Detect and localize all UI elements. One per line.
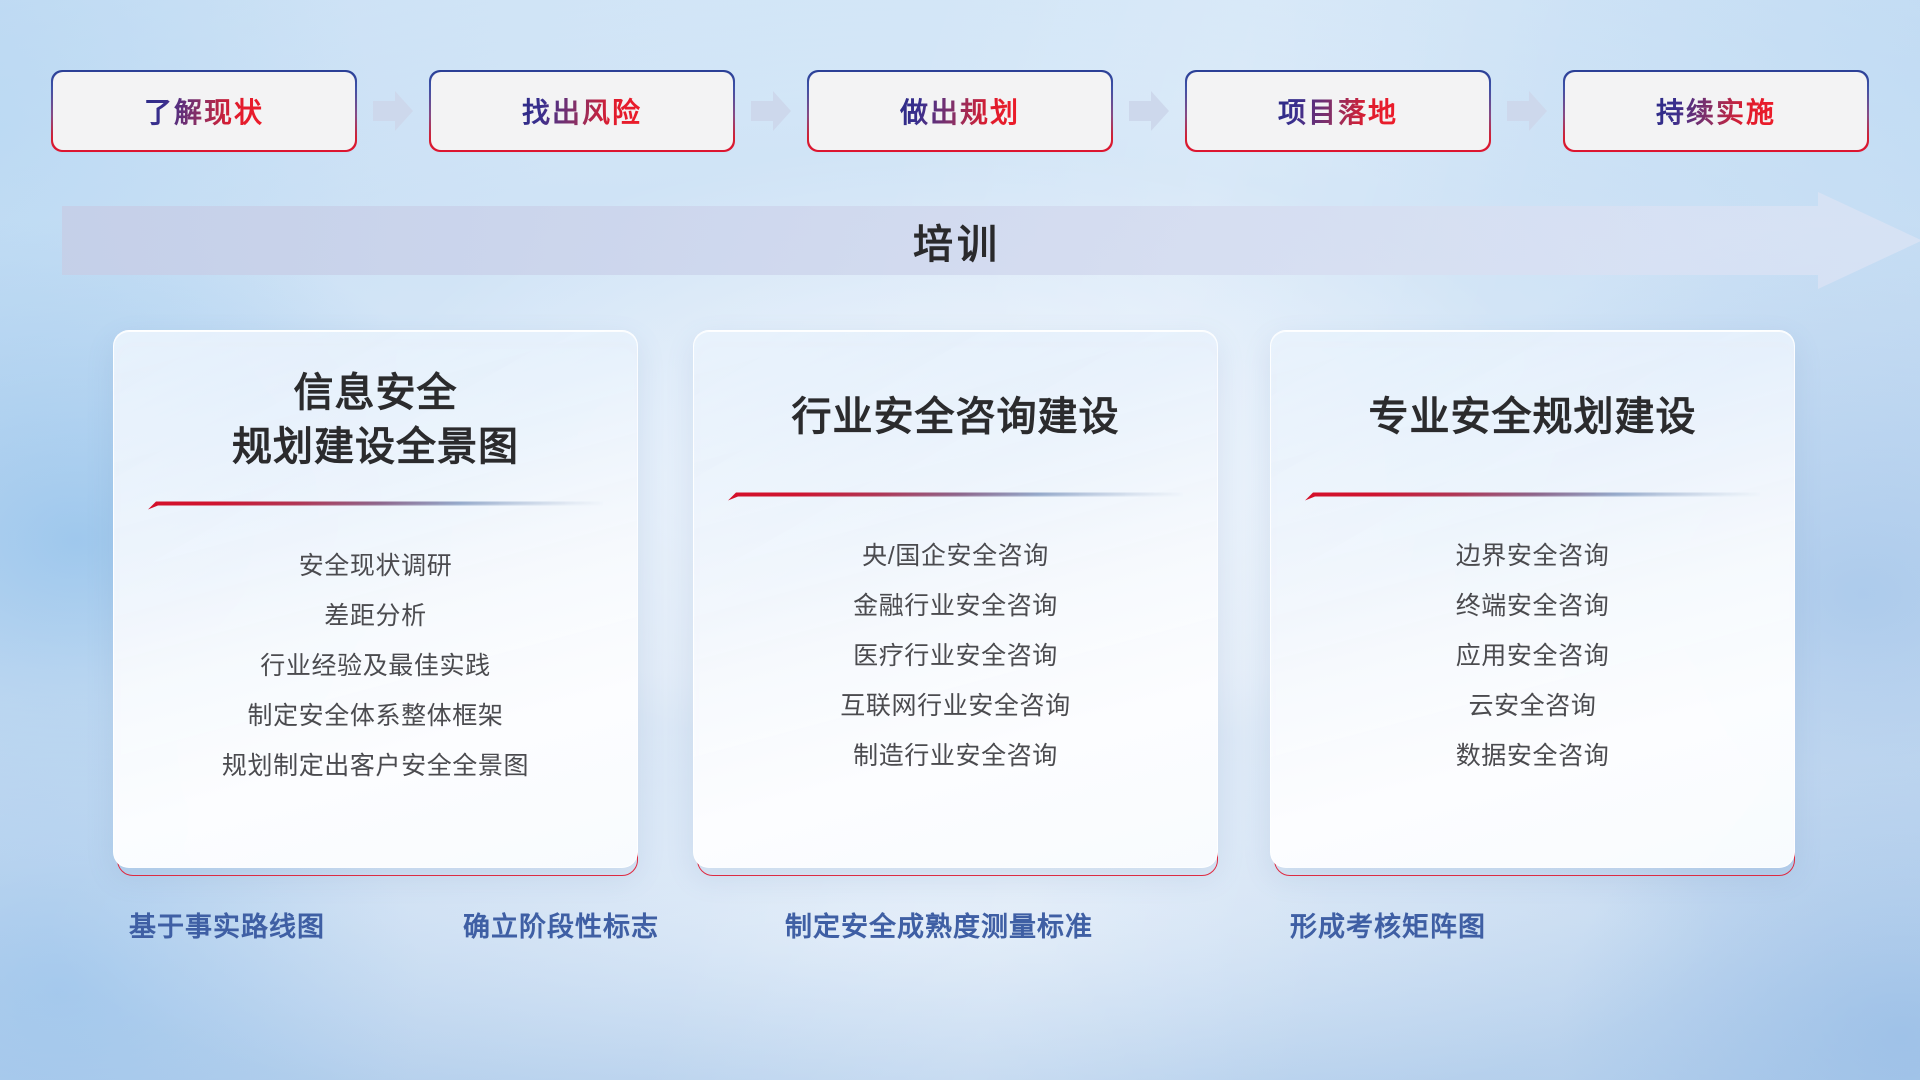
step-box-1[interactable]: 了解现状 [53,72,355,150]
list-item: 金融行业安全咨询 [853,582,1058,632]
list-item: 制造行业安全咨询 [853,732,1058,782]
training-banner: 培训 [62,192,1920,289]
card-divider [1305,491,1760,504]
list-item: 终端安全咨询 [1456,582,1610,632]
card-title-line: 行业安全咨询建设 [694,391,1217,445]
list-item: 制定安全体系整体框架 [247,691,503,741]
list-item: 应用安全咨询 [1456,632,1610,682]
footer-label-2: 确立阶段性标志 [463,905,659,944]
footer-labels-row: 基于事实路线图 确立阶段性标志 制定安全成熟度测量标准 形成考核矩阵图 [0,905,1920,965]
card-title-line: 信息安全 [114,367,637,421]
card-title: 信息安全 规划建设全景图 [114,367,637,474]
list-item: 边界安全咨询 [1456,532,1610,582]
footer-label-3: 制定安全成熟度测量标准 [785,905,1093,944]
card-industry-security-consulting[interactable]: 行业安全咨询建设 [693,330,1218,868]
right-arrow-icon [371,88,415,134]
step-label: 持续实施 [1656,91,1776,131]
process-steps-row: 了解现状 找出风险 做出规划 项目落地 持续实施 [0,70,1920,152]
card-divider [728,491,1183,504]
step-box-2[interactable]: 找出风险 [431,72,733,150]
list-item: 差距分析 [324,591,426,641]
list-item: 医疗行业安全咨询 [853,632,1058,682]
card-title: 行业安全咨询建设 [694,391,1217,445]
list-item: 互联网行业安全咨询 [840,682,1070,732]
right-arrow-icon [1127,88,1171,134]
footer-label-1: 基于事实路线图 [129,905,325,944]
card-information-security-blueprint[interactable]: 信息安全 规划建设全景图 [113,330,638,868]
card-professional-security-planning[interactable]: 专业安全规划建设 [1270,330,1795,868]
list-item: 规划制定出客户安全全景图 [222,741,529,791]
card-list: 安全现状调研 差距分析 行业经验及最佳实践 制定安全体系整体框架 规划制定出客户… [114,541,637,791]
list-item: 安全现状调研 [299,541,453,591]
step-label: 了解现状 [144,91,264,131]
card-divider [148,500,603,513]
list-item: 央/国企安全咨询 [862,532,1049,582]
list-item: 数据安全咨询 [1456,732,1610,782]
footer-label-4: 形成考核矩阵图 [1290,905,1486,944]
card-title: 专业安全规划建设 [1271,391,1794,445]
card-title-line: 规划建设全景图 [114,421,637,475]
banner-title: 培训 [62,192,1852,289]
list-item: 云安全咨询 [1468,682,1596,732]
cards-row: 信息安全 规划建设全景图 [0,330,1920,875]
card-list: 央/国企安全咨询 金融行业安全咨询 医疗行业安全咨询 互联网行业安全咨询 制造行… [694,532,1217,782]
step-label: 做出规划 [900,91,1020,131]
right-arrow-icon [1505,88,1549,134]
card-list: 边界安全咨询 终端安全咨询 应用安全咨询 云安全咨询 数据安全咨询 [1271,532,1794,782]
step-box-3[interactable]: 做出规划 [809,72,1111,150]
step-box-5[interactable]: 持续实施 [1565,72,1867,150]
card-title-line: 专业安全规划建设 [1271,391,1794,445]
right-arrow-icon [749,88,793,134]
step-label: 找出风险 [522,91,642,131]
list-item: 行业经验及最佳实践 [260,641,490,691]
step-label: 项目落地 [1278,91,1398,131]
step-box-4[interactable]: 项目落地 [1187,72,1489,150]
